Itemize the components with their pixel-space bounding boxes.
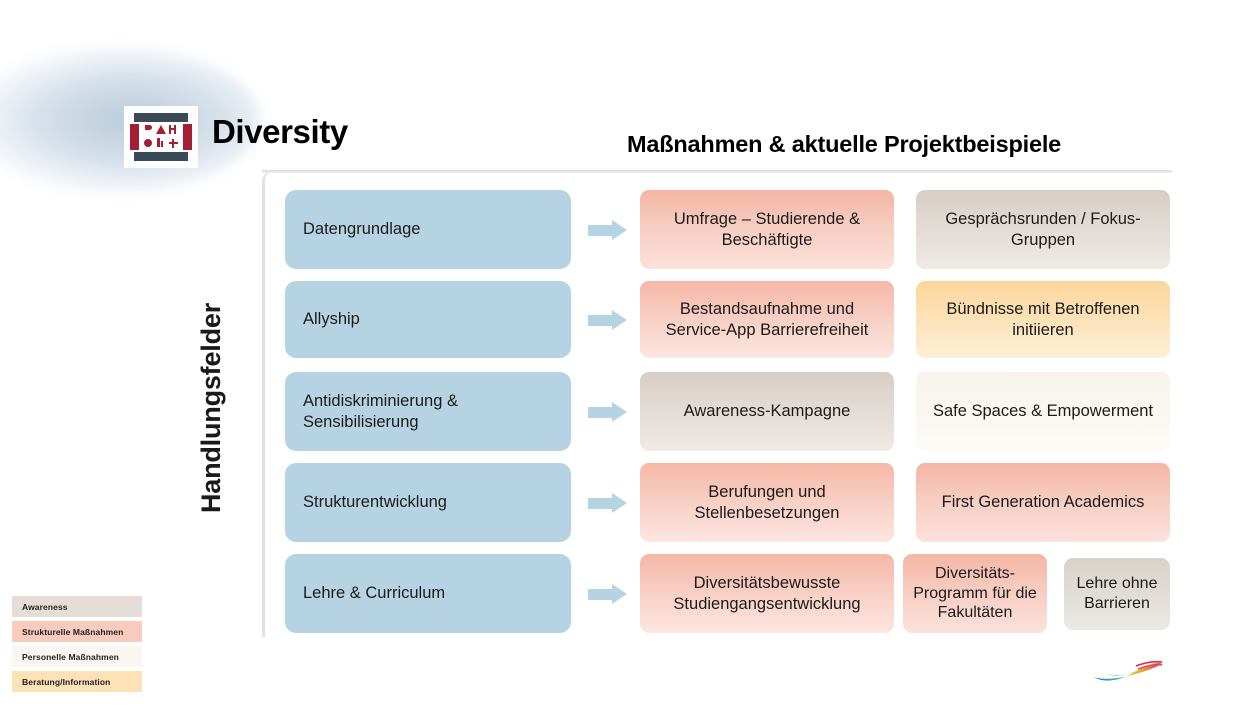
rainbow-swoosh-logo [1092,660,1164,686]
flow-arrow-icon [588,310,628,330]
flow-arrow-icon [588,220,628,240]
measure-box[interactable]: Berufungen und Stellenbesetzungen [640,463,894,542]
handlungsfeld-box[interactable]: Allyship [285,281,571,358]
logo-glyph-grid [141,124,181,150]
matrix-row: Antidiskriminierung & Sensibilisierung A… [0,372,1260,456]
handlungsfeld-box[interactable]: Lehre & Curriculum [285,554,571,633]
logo-triangle-icon [155,124,166,137]
measure-box[interactable]: Safe Spaces & Empowerment [916,372,1170,451]
handlungsfeld-box[interactable]: Datengrundlage [285,190,571,269]
flow-arrow-icon [588,493,628,513]
measure-box[interactable]: Diversitäts-Programm für die Fakultäten [903,554,1047,633]
flow-arrow-icon [588,402,628,422]
legend-item-beratung-information[interactable]: Beratung/Information [12,671,142,692]
matrix-row: Strukturentwicklung Berufungen und Stell… [0,463,1260,547]
legend-item-strukturelle-massnahmen[interactable]: Strukturelle Maßnahmen [12,621,142,642]
logo-left-bar [130,124,139,150]
legend-label: Personelle Maßnahmen [22,652,119,662]
matrix-row: Allyship Bestandsaufnahme und Service-Ap… [0,281,1260,365]
handlungsfeld-box[interactable]: Strukturentwicklung [285,463,571,542]
logo-right-bar [183,124,192,150]
legend-label: Strukturelle Maßnahmen [22,627,123,637]
logo-bars-icon [155,138,166,151]
matrix-row: Datengrundlage Umfrage – Studierende & B… [0,190,1260,274]
page-subtitle: Maßnahmen & aktuelle Projektbeispiele [627,131,1061,158]
measure-box[interactable]: Bestandsaufnahme und Service-App Barrier… [640,281,894,358]
hochschule-logo [124,106,198,168]
measure-box[interactable]: First Generation Academics [916,463,1170,542]
measure-box[interactable]: Gesprächsrunden / Fokus-Gruppen [916,190,1170,269]
legend-item-awareness[interactable]: Awareness [12,596,142,617]
logo-h-icon [168,124,179,137]
logo-circle-icon [143,138,154,151]
page-title: Diversity [212,113,348,151]
measure-box[interactable]: Umfrage – Studierende & Beschäftigte [640,190,894,269]
legend: Awareness Strukturelle Maßnahmen Persone… [12,596,142,696]
measure-box[interactable]: Diversitätsbewusste Studiengangsentwickl… [640,554,894,633]
matrix-row: Lehre & Curriculum Diversitätsbewusste S… [0,554,1260,638]
measure-box[interactable]: Bündnisse mit Betroffenen initiieren [916,281,1170,358]
measure-box[interactable]: Awareness-Kampagne [640,372,894,451]
logo-glyph-row [130,124,192,150]
legend-label: Awareness [22,602,68,612]
logo-bar-top [134,113,188,122]
legend-label: Beratung/Information [22,677,110,687]
handlungsfeld-box[interactable]: Antidiskriminierung & Sensibilisierung [285,372,571,451]
logo-bar-bottom [134,152,188,161]
logo-plus-icon [168,138,179,151]
measure-box[interactable]: Lehre ohne Barrieren [1064,558,1170,630]
legend-item-personelle-massnahmen[interactable]: Personelle Maßnahmen [12,646,142,667]
logo-flag-icon [143,124,154,137]
flow-arrow-icon [588,584,628,604]
